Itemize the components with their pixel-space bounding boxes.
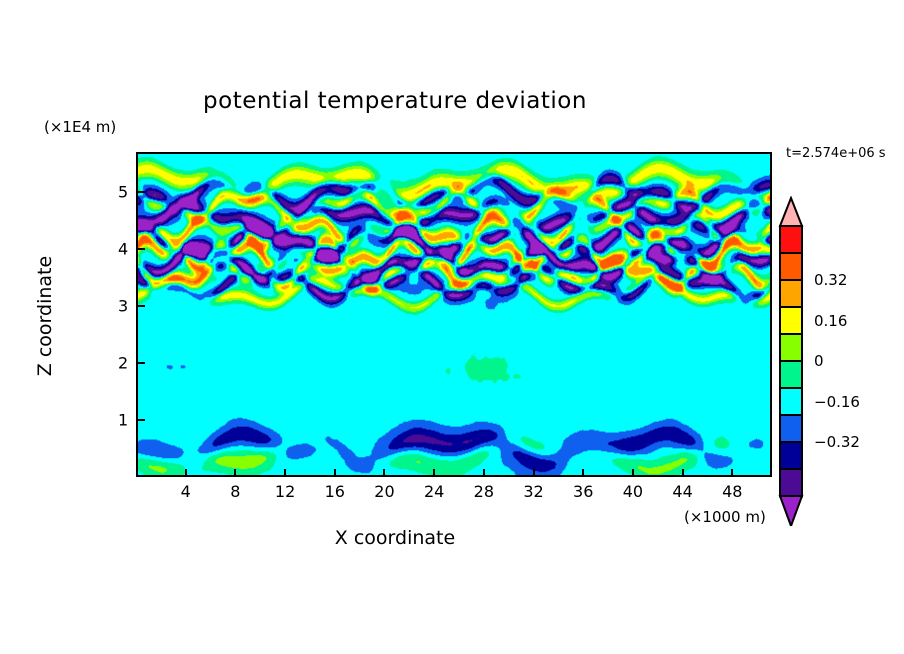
x-axis-label: X coordinate bbox=[0, 527, 790, 549]
x-tick-label: 4 bbox=[181, 482, 191, 501]
x-tick-label: 24 bbox=[424, 482, 444, 501]
colorbar-swatch bbox=[780, 253, 802, 281]
x-tick-label: 20 bbox=[374, 482, 394, 501]
colorbar-swatch bbox=[780, 415, 802, 443]
page-title: potential temperature deviation bbox=[0, 88, 790, 114]
x-tick-mark bbox=[334, 469, 336, 477]
colorbar-swatch bbox=[780, 442, 802, 470]
x-tick-label: 12 bbox=[275, 482, 295, 501]
colorbar-tick-label: 0.16 bbox=[814, 312, 847, 330]
colorbar-swatch bbox=[780, 280, 802, 308]
colorbar-swatch bbox=[780, 307, 802, 335]
x-tick-label: 32 bbox=[523, 482, 543, 501]
y-tick-mark bbox=[136, 419, 145, 421]
y-tick-mark bbox=[136, 362, 145, 364]
colorbar-swatch bbox=[780, 226, 802, 254]
x-tick-mark bbox=[185, 469, 187, 477]
x-tick-mark bbox=[383, 469, 385, 477]
x-tick-mark bbox=[284, 469, 286, 477]
x-tick-label: 40 bbox=[623, 482, 643, 501]
x-tick-label: 8 bbox=[230, 482, 240, 501]
colorbar[interactable]: 0.320.160−0.16−0.32 bbox=[776, 196, 896, 526]
y-tick-label: 2 bbox=[118, 353, 128, 372]
time-annotation: t=2.574e+06 s bbox=[786, 146, 886, 161]
colorbar-tick-label: 0.32 bbox=[814, 271, 847, 289]
x-tick-mark bbox=[533, 469, 535, 477]
x-tick-label: 44 bbox=[672, 482, 692, 501]
y-tick-mark bbox=[136, 305, 145, 307]
colorbar-swatch bbox=[780, 361, 802, 389]
contour-plot-area[interactable] bbox=[136, 152, 772, 477]
colorbar-swatch bbox=[780, 388, 802, 416]
y-tick-mark bbox=[136, 248, 145, 250]
y-tick-label: 3 bbox=[118, 296, 128, 315]
y-tick-label: 4 bbox=[118, 239, 128, 258]
x-tick-mark bbox=[582, 469, 584, 477]
y-tick-mark bbox=[136, 191, 145, 193]
x-tick-mark bbox=[682, 469, 684, 477]
x-tick-mark bbox=[632, 469, 634, 477]
x-tick-label: 28 bbox=[474, 482, 494, 501]
x-tick-mark bbox=[234, 469, 236, 477]
contour-field-canvas bbox=[138, 154, 770, 475]
colorbar-cap-top bbox=[780, 198, 802, 226]
colorbar-swatches bbox=[776, 196, 816, 526]
x-tick-label: 36 bbox=[573, 482, 593, 501]
x-tick-label: 16 bbox=[325, 482, 345, 501]
colorbar-cap-bottom bbox=[780, 496, 802, 526]
y-tick-label: 1 bbox=[118, 410, 128, 429]
colorbar-swatch bbox=[780, 334, 802, 362]
x-tick-mark bbox=[433, 469, 435, 477]
colorbar-tick-label: −0.32 bbox=[814, 433, 860, 451]
colorbar-swatch bbox=[780, 469, 802, 497]
x-tick-mark bbox=[731, 469, 733, 477]
colorbar-tick-label: 0 bbox=[814, 352, 824, 370]
colorbar-tick-label: −0.16 bbox=[814, 393, 860, 411]
y-axis-unit-label: (×1E4 m) bbox=[44, 118, 116, 136]
y-tick-label: 5 bbox=[118, 182, 128, 201]
x-axis-unit-label: (×1000 m) bbox=[684, 508, 766, 526]
y-axis-label: Z coordinate bbox=[34, 236, 56, 396]
x-tick-label: 48 bbox=[722, 482, 742, 501]
x-tick-mark bbox=[483, 469, 485, 477]
